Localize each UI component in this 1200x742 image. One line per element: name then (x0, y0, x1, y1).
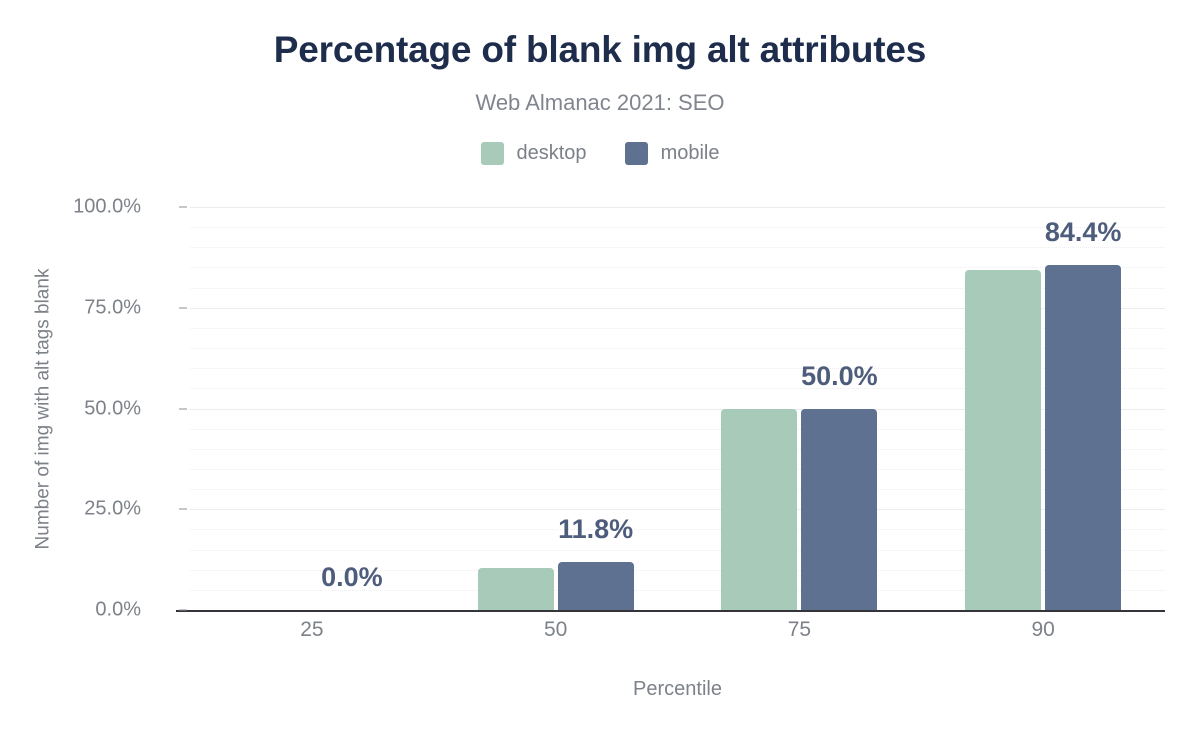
x-tick-label-90: 90 (973, 618, 1113, 642)
bar-mobile-75[interactable] (801, 409, 877, 611)
y-tick-label: 50.0% (21, 397, 141, 420)
y-tick-label: 25.0% (21, 498, 141, 521)
y-tick-label: 75.0% (21, 296, 141, 319)
bar-value-label-90: 84.4% (1045, 217, 1122, 248)
x-tick-label-75: 75 (729, 618, 869, 642)
bar-value-label-25: 0.0% (321, 562, 383, 593)
x-tick-label-25: 25 (242, 618, 382, 642)
chart-subtitle: Web Almanac 2021: SEO (0, 90, 1200, 116)
legend-item-desktop[interactable]: desktop (481, 142, 587, 165)
y-tick-mark (179, 610, 187, 611)
plot-area: 0.0%25.0%50.0%75.0%100.0%0.0%11.8%50.0%8… (190, 207, 1165, 610)
chart-legend: desktop mobile (0, 142, 1200, 165)
y-tick-mark (179, 307, 187, 308)
bar-desktop-90[interactable] (965, 270, 1041, 610)
x-axis-line (176, 610, 1165, 612)
legend-label-desktop: desktop (517, 142, 587, 165)
bar-value-label-50: 11.8% (558, 514, 633, 545)
gridline (190, 207, 1165, 208)
chart-figure: Percentage of blank img alt attributes W… (0, 0, 1200, 742)
bar-mobile-90[interactable] (1045, 265, 1121, 610)
bar-desktop-50[interactable] (478, 568, 554, 610)
bar-value-label-75: 50.0% (801, 361, 878, 392)
chart-title: Percentage of blank img alt attributes (0, 30, 1200, 71)
y-tick-label: 0.0% (21, 599, 141, 622)
y-tick-mark (179, 207, 187, 208)
bar-desktop-75[interactable] (721, 409, 797, 610)
gridline (190, 227, 1165, 228)
legend-item-mobile[interactable]: mobile (625, 142, 720, 165)
legend-label-mobile: mobile (661, 142, 720, 165)
legend-swatch-desktop (481, 142, 504, 165)
gridline (190, 247, 1165, 248)
x-tick-label-50: 50 (486, 618, 626, 642)
bar-mobile-50[interactable] (558, 562, 634, 610)
legend-swatch-mobile (625, 142, 648, 165)
y-tick-mark (179, 408, 187, 409)
y-tick-mark (179, 509, 187, 510)
gridline (190, 267, 1165, 268)
y-tick-label: 100.0% (21, 196, 141, 219)
x-axis-title: Percentile (190, 678, 1165, 701)
